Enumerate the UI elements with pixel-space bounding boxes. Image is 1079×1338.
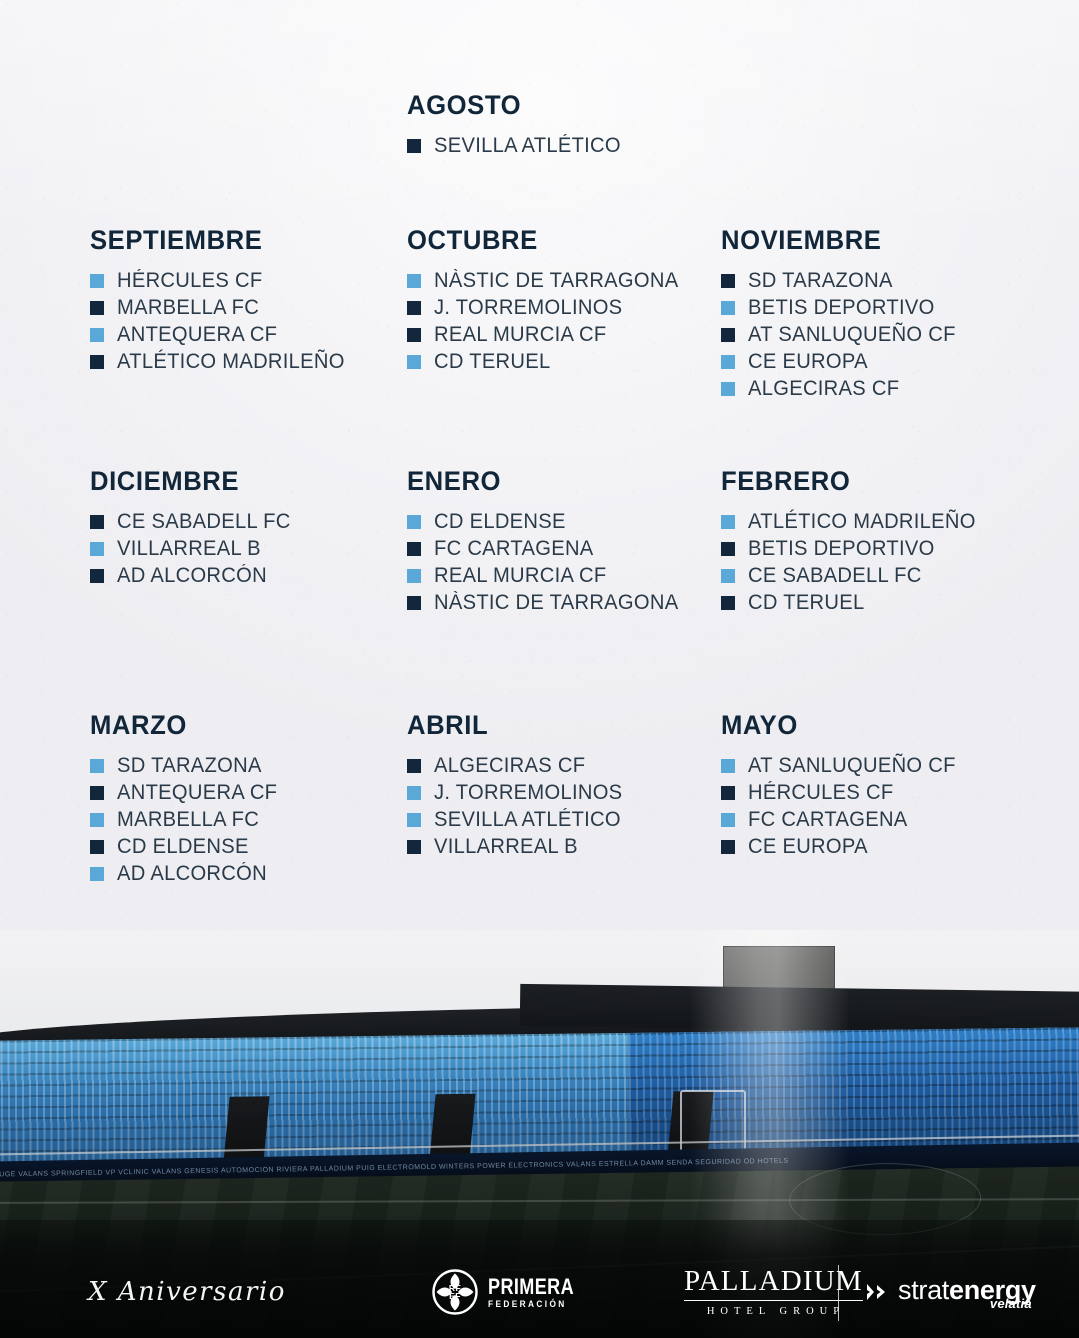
home-match-bullet-icon: [721, 515, 735, 529]
season-calendar-poster: FLUGE VALANS SPRINGFIELD VP VCLINIC VALA…: [0, 0, 1079, 1338]
match-item[interactable]: HÉRCULES CF: [721, 782, 1039, 803]
opponent-name: AT SANLUQUEÑO CF: [748, 324, 956, 345]
opponent-name: SD TARAZONA: [117, 755, 262, 776]
goal-frame: [680, 1090, 746, 1154]
match-item[interactable]: CD ELDENSE: [407, 511, 721, 532]
opponent-name: CD TERUEL: [434, 351, 550, 372]
footer-divider: [838, 1265, 839, 1321]
match-item[interactable]: BETIS DEPORTIVO: [721, 297, 1039, 318]
calendar-row: SEPTIEMBREHÉRCULES CFMARBELLA FCANTEQUER…: [90, 227, 1039, 405]
opponent-name: HÉRCULES CF: [117, 270, 262, 291]
velatia-label: velatia: [990, 1297, 1032, 1310]
away-match-bullet-icon: [407, 840, 421, 854]
match-list: SEVILLA ATLÉTICO: [407, 135, 721, 156]
palladium-name: PALLADIUM: [684, 1267, 863, 1301]
month-block-agosto: AGOSTOSEVILLA ATLÉTICO: [407, 92, 721, 162]
match-item[interactable]: CE EUROPA: [721, 351, 1039, 372]
away-match-bullet-icon: [721, 542, 735, 556]
match-item[interactable]: SEVILLA ATLÉTICO: [407, 809, 721, 830]
home-match-bullet-icon: [407, 355, 421, 369]
opponent-name: MARBELLA FC: [117, 297, 259, 318]
match-item[interactable]: CE SABADELL FC: [90, 511, 407, 532]
match-item[interactable]: REAL MURCIA CF: [407, 324, 721, 345]
month-title: AGOSTO: [407, 92, 705, 119]
month-title: FEBRERO: [721, 468, 1023, 495]
month-title: ABRIL: [407, 712, 705, 739]
match-item[interactable]: AT SANLUQUEÑO CF: [721, 324, 1039, 345]
home-match-bullet-icon: [721, 759, 735, 773]
opponent-name: VILLARREAL B: [434, 836, 578, 857]
primera-federacion-logo: RF EF PRIMERA FEDERACIÓN: [432, 1269, 593, 1315]
strat-prefix: strat: [898, 1275, 949, 1305]
home-match-bullet-icon: [90, 759, 104, 773]
match-item[interactable]: AD ALCORCÓN: [90, 565, 407, 586]
opponent-name: CD ELDENSE: [117, 836, 249, 857]
home-match-bullet-icon: [721, 355, 735, 369]
stand-vomitory: [223, 1096, 269, 1166]
calendar-row: MARZOSD TARAZONAANTEQUERA CFMARBELLA FCC…: [90, 712, 1039, 890]
opponent-name: ANTEQUERA CF: [117, 324, 277, 345]
match-item[interactable]: REAL MURCIA CF: [407, 565, 721, 586]
opponent-name: CD TERUEL: [748, 592, 864, 613]
opponent-name: CE EUROPA: [748, 351, 868, 372]
rfef-crest-icon: RF EF: [432, 1269, 478, 1315]
opponent-name: CE SABADELL FC: [748, 565, 922, 586]
month-block-septiembre: SEPTIEMBREHÉRCULES CFMARBELLA FCANTEQUER…: [90, 227, 407, 405]
home-match-bullet-icon: [721, 301, 735, 315]
match-item[interactable]: ANTEQUERA CF: [90, 782, 407, 803]
match-item[interactable]: BETIS DEPORTIVO: [721, 538, 1039, 559]
opponent-name: NÀSTIC DE TARRAGONA: [434, 592, 678, 613]
away-match-bullet-icon: [90, 786, 104, 800]
month-title: ENERO: [407, 468, 705, 495]
calendar-row: DICIEMBRECE SABADELL FCVILLARREAL BAD AL…: [90, 468, 1039, 619]
opponent-name: FC CARTAGENA: [748, 809, 908, 830]
opponent-name: BETIS DEPORTIVO: [748, 297, 935, 318]
home-match-bullet-icon: [407, 274, 421, 288]
match-item[interactable]: SEVILLA ATLÉTICO: [407, 135, 721, 156]
opponent-name: HÉRCULES CF: [748, 782, 893, 803]
stratenergy-logo: stratenergy velatia: [866, 1277, 1036, 1307]
match-list: CE SABADELL FCVILLARREAL BAD ALCORCÓN: [90, 511, 407, 586]
away-match-bullet-icon: [407, 759, 421, 773]
opponent-name: SEVILLA ATLÉTICO: [434, 809, 621, 830]
match-item[interactable]: CE EUROPA: [721, 836, 1039, 857]
match-list: ATLÉTICO MADRILEÑOBETIS DEPORTIVOCE SABA…: [721, 511, 1039, 613]
month-title: NOVIEMBRE: [721, 227, 1023, 254]
opponent-name: J. TORREMOLINOS: [434, 782, 622, 803]
opponent-name: VILLARREAL B: [117, 538, 261, 559]
federacion-label: FEDERACIÓN: [488, 1300, 585, 1309]
stadium-roof-edge-right: [520, 984, 1079, 1034]
home-match-bullet-icon: [90, 542, 104, 556]
rfef-monogram-bottom: EF: [449, 1292, 461, 1301]
match-item[interactable]: CD TERUEL: [407, 351, 721, 372]
month-block-febrero: FEBREROATLÉTICO MADRILEÑOBETIS DEPORTIVO…: [721, 468, 1039, 619]
stratenergy-wordmark: stratenergy velatia: [898, 1277, 1036, 1304]
month-block-diciembre: DICIEMBRECE SABADELL FCVILLARREAL BAD AL…: [90, 468, 407, 619]
home-match-bullet-icon: [90, 813, 104, 827]
rfef-monogram: RF EF: [432, 1269, 478, 1315]
home-match-bullet-icon: [90, 867, 104, 881]
match-item[interactable]: CD ELDENSE: [90, 836, 407, 857]
match-item[interactable]: ATLÉTICO MADRILEÑO: [721, 511, 1039, 532]
palladium-subtitle: HOTEL GROUP: [684, 1301, 863, 1318]
opponent-name: AD ALCORCÓN: [117, 863, 267, 884]
match-item[interactable]: NÀSTIC DE TARRAGONA: [407, 592, 721, 613]
match-item[interactable]: HÉRCULES CF: [90, 270, 407, 291]
match-list: HÉRCULES CFMARBELLA FCANTEQUERA CFATLÉTI…: [90, 270, 407, 372]
match-list: SD TARAZONABETIS DEPORTIVOAT SANLUQUEÑO …: [721, 270, 1039, 399]
month-title: MARZO: [90, 712, 391, 739]
match-item[interactable]: AD ALCORCÓN: [90, 863, 407, 884]
match-item[interactable]: ANTEQUERA CF: [90, 324, 407, 345]
match-item[interactable]: CE SABADELL FC: [721, 565, 1039, 586]
opponent-name: NÀSTIC DE TARRAGONA: [434, 270, 678, 291]
away-match-bullet-icon: [407, 542, 421, 556]
opponent-name: ANTEQUERA CF: [117, 782, 277, 803]
month-title: OCTUBRE: [407, 227, 705, 254]
chevron-arrow-icon: [866, 1282, 890, 1307]
home-match-bullet-icon: [407, 813, 421, 827]
match-item[interactable]: AT SANLUQUEÑO CF: [721, 755, 1039, 776]
opponent-name: AT SANLUQUEÑO CF: [748, 755, 956, 776]
opponent-name: REAL MURCIA CF: [434, 324, 606, 345]
opponent-name: J. TORREMOLINOS: [434, 297, 622, 318]
opponent-name: ATLÉTICO MADRILEÑO: [117, 351, 345, 372]
opponent-name: ATLÉTICO MADRILEÑO: [748, 511, 976, 532]
match-item[interactable]: MARBELLA FC: [90, 297, 407, 318]
match-item[interactable]: ATLÉTICO MADRILEÑO: [90, 351, 407, 372]
away-match-bullet-icon: [90, 515, 104, 529]
primera-label: PRIMERA: [488, 1276, 574, 1298]
month-block-mayo: MAYOAT SANLUQUEÑO CFHÉRCULES CFFC CARTAG…: [721, 712, 1039, 890]
match-list: CD ELDENSEFC CARTAGENAREAL MURCIA CFNÀST…: [407, 511, 721, 613]
month-block-enero: ENEROCD ELDENSEFC CARTAGENAREAL MURCIA C…: [407, 468, 721, 619]
match-item[interactable]: J. TORREMOLINOS: [407, 782, 721, 803]
month-title: SEPTIEMBRE: [90, 227, 391, 254]
match-item[interactable]: SD TARAZONA: [721, 270, 1039, 291]
month-block-octubre: OCTUBRENÀSTIC DE TARRAGONAJ. TORREMOLINO…: [407, 227, 721, 405]
opponent-name: SD TARAZONA: [748, 270, 893, 291]
match-list: SD TARAZONAANTEQUERA CFMARBELLA FCCD ELD…: [90, 755, 407, 884]
month-title: DICIEMBRE: [90, 468, 391, 495]
primera-federacion-wordmark: PRIMERA FEDERACIÓN: [488, 1276, 593, 1309]
anniversary-wordmark: X Aniversario: [88, 1277, 286, 1307]
match-item[interactable]: FC CARTAGENA: [721, 809, 1039, 830]
away-match-bullet-icon: [407, 328, 421, 342]
footer-sponsor-bar: X Aniversario RF EF PRIMERA FEDERACIÓN: [0, 1246, 1079, 1338]
opponent-name: REAL MURCIA CF: [434, 565, 606, 586]
away-match-bullet-icon: [721, 840, 735, 854]
opponent-name: CE SABADELL FC: [117, 511, 291, 532]
away-match-bullet-icon: [721, 786, 735, 800]
calendar-row: AGOSTOSEVILLA ATLÉTICO: [90, 92, 1039, 162]
match-list: AT SANLUQUEÑO CFHÉRCULES CFFC CARTAGENAC…: [721, 755, 1039, 857]
match-item[interactable]: ALGECIRAS CF: [721, 378, 1039, 399]
home-match-bullet-icon: [721, 382, 735, 396]
month-block-abril: ABRILALGECIRAS CFJ. TORREMOLINOSSEVILLA …: [407, 712, 721, 890]
match-item[interactable]: ALGECIRAS CF: [407, 755, 721, 776]
away-match-bullet-icon: [407, 139, 421, 153]
opponent-name: CD ELDENSE: [434, 511, 566, 532]
opponent-name: ALGECIRAS CF: [748, 378, 899, 399]
month-block-marzo: MARZOSD TARAZONAANTEQUERA CFMARBELLA FCC…: [90, 712, 407, 890]
opponent-name: ALGECIRAS CF: [434, 755, 585, 776]
opponent-name: CE EUROPA: [748, 836, 868, 857]
opponent-name: MARBELLA FC: [117, 809, 259, 830]
match-item[interactable]: VILLARREAL B: [90, 538, 407, 559]
match-item[interactable]: MARBELLA FC: [90, 809, 407, 830]
match-item[interactable]: J. TORREMOLINOS: [407, 297, 721, 318]
away-match-bullet-icon: [721, 596, 735, 610]
month-block-noviembre: NOVIEMBRESD TARAZONABETIS DEPORTIVOAT SA…: [721, 227, 1039, 405]
match-item[interactable]: SD TARAZONA: [90, 755, 407, 776]
away-match-bullet-icon: [721, 328, 735, 342]
away-match-bullet-icon: [407, 301, 421, 315]
match-item[interactable]: NÀSTIC DE TARRAGONA: [407, 270, 721, 291]
home-match-bullet-icon: [721, 813, 735, 827]
home-match-bullet-icon: [407, 786, 421, 800]
home-match-bullet-icon: [407, 515, 421, 529]
home-match-bullet-icon: [90, 328, 104, 342]
away-match-bullet-icon: [721, 274, 735, 288]
match-item[interactable]: CD TERUEL: [721, 592, 1039, 613]
palladium-logo: PALLADIUM HOTEL GROUP: [684, 1267, 863, 1318]
month-title: MAYO: [721, 712, 1023, 739]
home-match-bullet-icon: [407, 569, 421, 583]
away-match-bullet-icon: [90, 840, 104, 854]
match-item[interactable]: FC CARTAGENA: [407, 538, 721, 559]
away-match-bullet-icon: [90, 569, 104, 583]
opponent-name: SEVILLA ATLÉTICO: [434, 135, 621, 156]
opponent-name: AD ALCORCÓN: [117, 565, 267, 586]
opponent-name: FC CARTAGENA: [434, 538, 594, 559]
match-list: NÀSTIC DE TARRAGONAJ. TORREMOLINOSREAL M…: [407, 270, 721, 372]
away-match-bullet-icon: [407, 596, 421, 610]
match-item[interactable]: VILLARREAL B: [407, 836, 721, 857]
away-match-bullet-icon: [90, 301, 104, 315]
match-list: ALGECIRAS CFJ. TORREMOLINOSSEVILLA ATLÉT…: [407, 755, 721, 857]
home-match-bullet-icon: [721, 569, 735, 583]
opponent-name: BETIS DEPORTIVO: [748, 538, 935, 559]
away-match-bullet-icon: [90, 355, 104, 369]
home-match-bullet-icon: [90, 274, 104, 288]
